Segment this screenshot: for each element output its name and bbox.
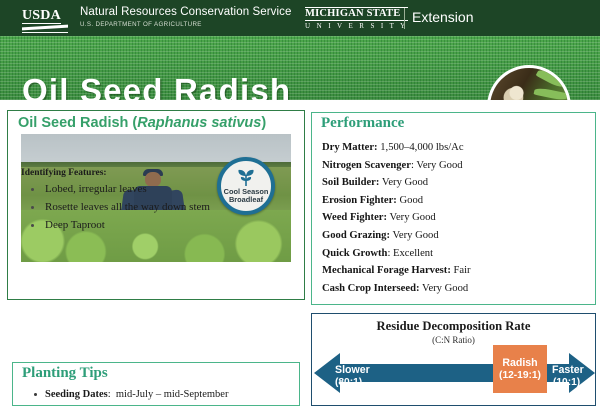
performance-row: Weed Fighter: Very Good [322, 209, 590, 227]
radish-root-photo [487, 65, 571, 100]
list-item: Deep Taproot [23, 216, 293, 234]
agency-header-bar: USDA Natural Resources Conservation Serv… [0, 0, 600, 36]
performance-row: Cash Crop Interseed: Very Good [322, 280, 590, 298]
title-band: Oil Seed Radish MICHIGAN · COVER CROP FA… [0, 36, 600, 100]
performance-value: Fair [451, 265, 471, 276]
species-common-name: Oil Seed Radish ( [18, 115, 137, 131]
performance-value: Good [397, 195, 423, 206]
slower-value: (80:1) [335, 377, 362, 388]
usda-logo: USDA [22, 6, 72, 30]
agency-department: U.S. DEPARTMENT OF AGRICULTURE [80, 21, 202, 28]
performance-label: Erosion Fighter: [322, 195, 397, 206]
species-title: Oil Seed Radish (Raphanus sativus) [18, 115, 266, 131]
performance-row: Quick Growth: Excellent [322, 245, 590, 263]
msu-name-line1: MICHIGAN STATE [305, 7, 408, 21]
performance-row: Nitrogen Scavenger: Very Good [322, 157, 590, 175]
residue-subtitle: (C:N Ratio) [312, 335, 595, 345]
performance-value: Very Good [387, 212, 436, 223]
marker-label: Radish [493, 357, 547, 369]
usda-wordmark: USDA [22, 9, 61, 24]
agency-name: Natural Resources Conservation Service [80, 6, 292, 18]
logo-divider [404, 8, 405, 29]
page-title: Oil Seed Radish [22, 74, 291, 100]
performance-label: Cash Crop Interseed: [322, 283, 420, 294]
performance-value: : Very Good [411, 160, 463, 171]
list-item: Rosette leaves all the way down stem [23, 198, 293, 216]
usda-swoosh-icon [22, 25, 68, 33]
performance-row: Mechanical Forage Harvest: Fair [322, 262, 590, 280]
identifying-features-list: Lobed, irregular leaves Rosette leaves a… [23, 180, 293, 234]
fact-sheet-page: USDA Natural Resources Conservation Serv… [0, 0, 600, 400]
performance-title: Performance [321, 115, 404, 132]
species-latin-name: Raphanus sativus [137, 115, 261, 131]
slower-label: Slower [335, 364, 370, 376]
performance-row: Good Grazing: Very Good [322, 227, 590, 245]
extension-label: Extension [412, 9, 473, 25]
msu-logo: MICHIGAN STATE U N I V E R S I T Y [305, 7, 408, 31]
performance-value: Very Good [420, 283, 469, 294]
performance-value: 1,500–4,000 lbs/Ac [380, 142, 463, 153]
faster-value: (10:1) [553, 377, 580, 388]
tip-value: mid-July – mid-September [116, 389, 229, 400]
performance-row: Erosion Fighter: Good [322, 192, 590, 210]
list-item: Lobed, irregular leaves [23, 180, 293, 198]
faster-label: Faster [552, 364, 584, 376]
identifying-features-label: Identifying Features: [21, 168, 107, 178]
planting-tips-title: Planting Tips [22, 365, 108, 382]
performance-label: Nitrogen Scavenger [322, 160, 411, 171]
planting-tips-panel: Planting Tips Seeding Dates: mid-July – … [12, 362, 300, 406]
performance-panel: Performance Dry Matter: 1,500–4,000 lbs/… [311, 112, 596, 305]
performance-label: Dry Matter: [322, 142, 378, 153]
performance-row: Dry Matter: 1,500–4,000 lbs/Ac [322, 139, 590, 157]
tip-label: Seeding Dates [45, 389, 108, 400]
residue-decomposition-panel: Residue Decomposition Rate (C:N Ratio) R… [311, 313, 596, 406]
performance-label: Soil Builder: [322, 177, 379, 188]
species-title-close: ) [261, 115, 266, 131]
performance-value: Very Good [379, 177, 428, 188]
marker-value: (12-19:1) [493, 370, 547, 381]
performance-row: Soil Builder: Very Good [322, 174, 590, 192]
msu-name-line2: U N I V E R S I T Y [305, 21, 408, 31]
performance-label: Good Grazing: [322, 230, 390, 241]
residue-title: Residue Decomposition Rate [312, 319, 595, 334]
performance-label: Mechanical Forage Harvest: [322, 265, 451, 276]
performance-label: Weed Fighter: [322, 212, 387, 223]
performance-value: : Excellent [387, 248, 433, 259]
performance-list: Dry Matter: 1,500–4,000 lbs/Ac Nitrogen … [322, 139, 590, 297]
performance-label: Quick Growth [322, 248, 387, 259]
radish-marker: Radish (12-19:1) [493, 345, 547, 393]
performance-value: Very Good [390, 230, 439, 241]
